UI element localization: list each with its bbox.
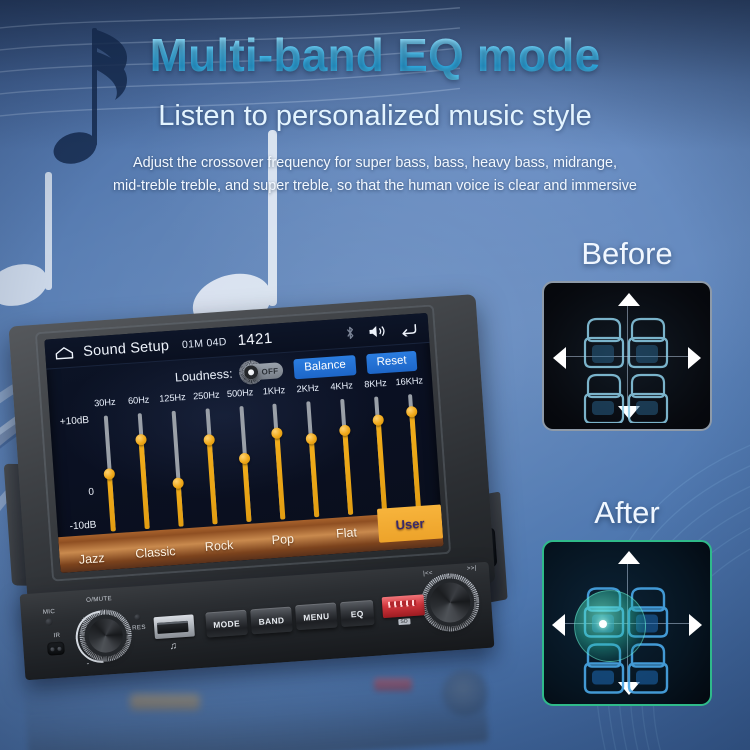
eq-slider-fill xyxy=(207,440,218,524)
frequency-label-60hz: 60Hz xyxy=(121,394,156,411)
balance-right-arrow-icon[interactable] xyxy=(688,347,701,369)
track-next-label: >>| xyxy=(467,565,477,573)
eq-slider-thumb[interactable] xyxy=(372,414,384,426)
frequency-label-1khz: 1KHz xyxy=(257,385,292,402)
screen-date: 01M 04D xyxy=(182,335,227,350)
frequency-label-4khz: 4KHz xyxy=(324,380,359,397)
eq-button[interactable]: EQ xyxy=(340,600,375,627)
reset-button[interactable]: Reset xyxy=(366,351,417,375)
preset-classic[interactable]: Classic xyxy=(122,535,187,561)
eq-slider-thumb[interactable] xyxy=(305,433,317,445)
frequency-label-8khz: 8KHz xyxy=(358,378,393,395)
eq-slider-fill xyxy=(176,483,184,527)
device-screen[interactable]: Sound Setup 01M 04D 1421 Loudnes xyxy=(44,313,443,573)
eq-slider-thumb[interactable] xyxy=(239,452,251,464)
page-subtitle: Listen to personalized music style xyxy=(0,100,750,133)
before-label: Before xyxy=(527,236,727,272)
reset-hole[interactable] xyxy=(134,614,140,620)
loudness-toggle-knob xyxy=(244,365,259,380)
balance-left-arrow-icon[interactable] xyxy=(553,347,566,369)
sound-focus-indicator xyxy=(574,590,646,662)
back-icon[interactable] xyxy=(399,321,418,336)
eq-slider-fill xyxy=(274,433,285,520)
eq-slider-fill xyxy=(242,458,251,522)
description-line-2: mid-treble treble, and super treble, so … xyxy=(0,175,750,198)
eq-slider-fill xyxy=(139,439,150,529)
page-title: Multi-band EQ mode xyxy=(0,28,750,82)
volume-knob-label: O/MUTE xyxy=(86,595,112,604)
band-button[interactable]: BAND xyxy=(250,607,293,635)
sd-card-slot[interactable] xyxy=(382,594,425,618)
loudness-label: Loudness: xyxy=(174,367,233,385)
fader-up-arrow-icon[interactable] xyxy=(618,551,640,564)
frequency-label-250hz: 250Hz xyxy=(189,389,224,406)
mic-label: MIC xyxy=(43,608,56,616)
loudness-toggle-state: OFF xyxy=(261,366,278,376)
after-seat-panel[interactable] xyxy=(542,540,712,706)
usb-port-inner xyxy=(157,620,189,633)
car-stereo-device: Sound Setup 01M 04D 1421 Loudnes xyxy=(0,296,540,716)
preset-jazz[interactable]: Jazz xyxy=(58,538,124,568)
screen-time: 1421 xyxy=(237,330,273,349)
eq-slider-thumb[interactable] xyxy=(405,406,417,418)
fader-up-arrow-icon[interactable] xyxy=(618,293,640,306)
home-icon[interactable] xyxy=(54,346,75,360)
eq-slider-thumb[interactable] xyxy=(339,425,351,437)
page-description: Adjust the crossover frequency for super… xyxy=(0,152,750,199)
after-label: After xyxy=(527,495,727,531)
eq-slider-fill xyxy=(409,411,421,510)
frequency-label-500hz: 500Hz xyxy=(223,387,258,404)
reflection-knob xyxy=(442,670,488,716)
db-axis-bottom: -10dB xyxy=(69,520,96,533)
reflection-sd xyxy=(374,678,412,691)
balance-button[interactable]: Balance xyxy=(294,355,357,380)
reset-label: RES xyxy=(132,624,146,632)
eq-slider-thumb[interactable] xyxy=(104,468,116,480)
preset-rock[interactable]: Rock xyxy=(186,533,251,555)
eq-slider-fill xyxy=(375,420,386,513)
description-line-1: Adjust the crossover frequency for super… xyxy=(0,152,750,175)
car-seats-diagram xyxy=(580,313,680,423)
reflection-preset-bar xyxy=(130,694,200,710)
preset-user[interactable]: User xyxy=(377,504,443,542)
mic-hole xyxy=(45,618,52,625)
balance-right-arrow-icon[interactable] xyxy=(689,614,702,636)
mode-button[interactable]: MODE xyxy=(205,610,248,638)
eq-slider-thumb[interactable] xyxy=(271,427,283,439)
balance-left-arrow-icon[interactable] xyxy=(552,614,565,636)
usb-port[interactable] xyxy=(153,614,194,639)
preset-flat[interactable]: Flat xyxy=(314,525,379,546)
db-axis-top: +10dB xyxy=(60,415,90,428)
eq-slider-fill xyxy=(342,431,353,515)
eq-slider-16khz[interactable] xyxy=(393,393,435,511)
tuning-knob[interactable] xyxy=(425,577,476,628)
music-note-icon: ♫ xyxy=(169,641,177,652)
bluetooth-icon[interactable] xyxy=(345,325,355,341)
screen-status-icons xyxy=(345,321,420,341)
eq-slider-fill xyxy=(107,473,116,531)
sd-label: SD xyxy=(398,618,410,625)
sound-focus-point xyxy=(599,620,607,628)
screen-title: Sound Setup xyxy=(83,338,170,360)
track-prev-label: |<< xyxy=(423,570,433,578)
eq-slider-fill xyxy=(309,439,319,517)
preset-pop[interactable]: Pop xyxy=(250,531,315,549)
ir-label: IR xyxy=(53,632,60,639)
eq-slider-thumb[interactable] xyxy=(135,433,147,445)
loudness-toggle[interactable]: OFF xyxy=(243,362,284,381)
eq-slider-thumb[interactable] xyxy=(204,434,216,446)
menu-button[interactable]: MENU xyxy=(295,602,338,630)
frequency-label-125hz: 125Hz xyxy=(155,392,190,409)
ir-receiver xyxy=(47,642,65,656)
eq-slider-thumb[interactable] xyxy=(173,477,185,489)
frequency-label-16khz: 16KHz xyxy=(392,375,427,392)
before-seat-panel[interactable] xyxy=(542,281,712,431)
volume-icon[interactable] xyxy=(368,323,386,338)
frequency-label-30hz: 30Hz xyxy=(88,396,123,413)
frequency-label-2khz: 2KHz xyxy=(290,382,325,399)
